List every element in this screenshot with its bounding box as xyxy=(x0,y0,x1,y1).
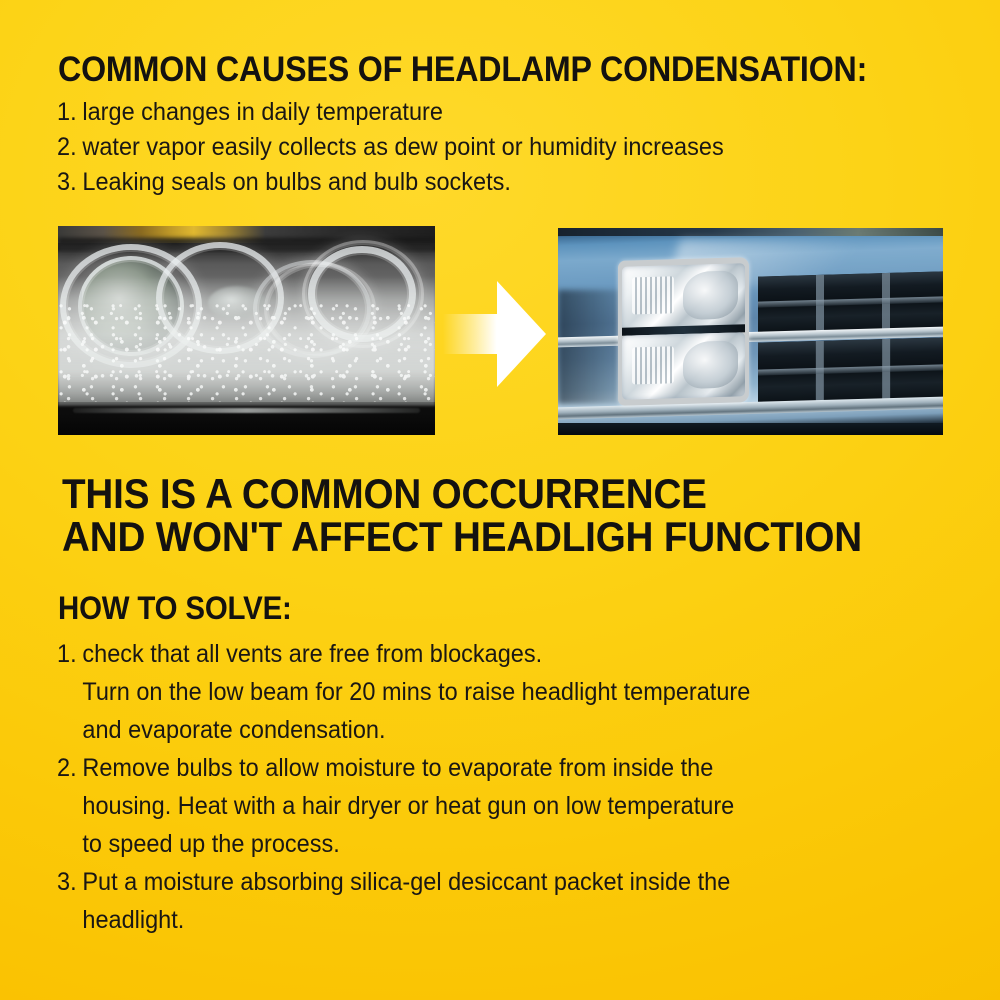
solve-list: 1. check that all vents are free from bl… xyxy=(57,640,750,944)
list-item: 1. check that all vents are free from bl… xyxy=(57,640,750,678)
list-item-continuation: to speed up the process. xyxy=(57,830,750,868)
banner-headline: THIS IS A COMMON OCCURRENCE AND WON'T AF… xyxy=(62,473,1000,559)
grille-upper xyxy=(758,271,943,334)
list-item-number: 1. xyxy=(57,98,82,127)
condensation-droplets xyxy=(58,301,435,401)
list-item-continuation: and evaporate condensation. xyxy=(57,716,750,754)
list-item-text: Leaking seals on bulbs and bulb sockets. xyxy=(82,168,511,197)
banner-line-1: THIS IS A COMMON OCCURRENCE xyxy=(62,470,707,517)
list-item-text: water vapor easily collects as dew point… xyxy=(82,133,723,162)
list-item-text: housing. Heat with a hair dryer or heat … xyxy=(82,792,734,821)
list-item-text: and evaporate condensation. xyxy=(82,716,385,745)
infographic-poster: COMMON CAUSES OF HEADLAMP CONDENSATION: … xyxy=(0,0,1000,1000)
list-item-continuation: housing. Heat with a hair dryer or heat … xyxy=(57,792,750,830)
headlamp-lower-trim xyxy=(58,402,435,435)
arrow-right-icon xyxy=(443,281,546,387)
list-item-text: large changes in daily temperature xyxy=(82,98,443,127)
list-item-text: Turn on the low beam for 20 mins to rais… xyxy=(82,678,750,707)
list-item-text: Put a moisture absorbing silica-gel desi… xyxy=(82,868,730,897)
headlight-upper-lens xyxy=(622,263,745,330)
background-sky-strip xyxy=(558,228,943,236)
list-item-number: 3. xyxy=(57,868,82,897)
list-item: 2. water vapor easily collects as dew po… xyxy=(57,133,724,168)
list-item-continuation: Turn on the low beam for 20 mins to rais… xyxy=(57,678,750,716)
list-item: 3. Put a moisture absorbing silica-gel d… xyxy=(57,868,750,906)
list-item-text: check that all vents are free from block… xyxy=(82,640,542,669)
headlight-lower-lens xyxy=(622,333,745,400)
list-item-text: headlight. xyxy=(82,906,184,935)
causes-list: 1. large changes in daily temperature 2.… xyxy=(57,98,724,203)
list-item-number: 2. xyxy=(57,133,82,162)
causes-heading: COMMON CAUSES OF HEADLAMP CONDENSATION: xyxy=(58,52,867,87)
list-item-text: Remove bulbs to allow moisture to evapor… xyxy=(82,754,713,783)
grille-lower xyxy=(758,337,943,404)
list-item: 1. large changes in daily temperature xyxy=(57,98,724,133)
headlamp-upper-trim xyxy=(58,226,435,243)
banner-line-2: AND WON'T AFFECT HEADLIGH FUNCTION xyxy=(62,516,1000,559)
list-item-number: 2. xyxy=(57,754,82,783)
list-item-text: to speed up the process. xyxy=(82,830,339,859)
after-photo-clear-headlight xyxy=(558,228,943,435)
list-item: 3. Leaking seals on bulbs and bulb socke… xyxy=(57,168,724,203)
list-item-continuation: headlight. xyxy=(57,906,750,944)
list-item-number: 1. xyxy=(57,640,82,669)
list-item-number: 3. xyxy=(57,168,82,197)
list-item: 2. Remove bulbs to allow moisture to eva… xyxy=(57,754,750,792)
bumper-shadow xyxy=(558,423,943,435)
headlight-assembly xyxy=(618,257,749,406)
before-photo-fogged-headlamp xyxy=(58,226,435,435)
solve-heading: HOW TO SOLVE: xyxy=(58,592,292,624)
